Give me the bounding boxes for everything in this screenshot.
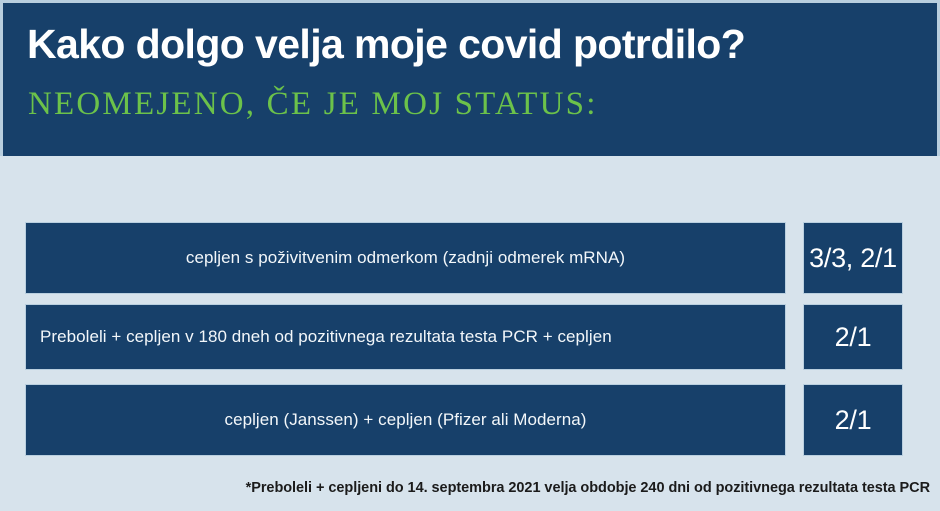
status-row-bar: cepljen (Janssen) + cepljen (Pfizer ali …	[25, 384, 786, 456]
status-rows-container: cepljen s poživitvenim odmerkom (zadnji …	[0, 156, 940, 466]
status-row: cepljen s poživitvenim odmerkom (zadnji …	[25, 222, 903, 294]
status-badge-value: 2/1	[835, 405, 872, 436]
status-row-bar: cepljen s poživitvenim odmerkom (zadnji …	[25, 222, 786, 294]
status-row: cepljen (Janssen) + cepljen (Pfizer ali …	[25, 384, 903, 456]
status-badge-value: 2/1	[835, 322, 872, 353]
status-badge-value: 3/3, 2/1	[809, 243, 897, 274]
status-row: Preboleli + cepljen v 180 dneh od poziti…	[25, 304, 903, 370]
infographic-canvas: Kako dolgo velja moje covid potrdilo? NE…	[0, 0, 940, 511]
status-row-label: cepljen (Janssen) + cepljen (Pfizer ali …	[211, 410, 601, 430]
page-subtitle: NEOMEJENO, ČE JE MOJ STATUS:	[28, 85, 598, 125]
header-banner: Kako dolgo velja moje covid potrdilo? NE…	[0, 0, 940, 156]
status-row-badge: 3/3, 2/1	[803, 222, 903, 294]
status-row-label: cepljen s poživitvenim odmerkom (zadnji …	[172, 248, 639, 268]
status-row-badge: 2/1	[803, 304, 903, 370]
status-row-badge: 2/1	[803, 384, 903, 456]
page-title: Kako dolgo velja moje covid potrdilo?	[27, 21, 745, 68]
status-row-bar: Preboleli + cepljen v 180 dneh od poziti…	[25, 304, 786, 370]
footnote-text: *Preboleli + cepljeni do 14. septembra 2…	[0, 480, 930, 496]
status-row-label: Preboleli + cepljen v 180 dneh od poziti…	[26, 327, 626, 347]
